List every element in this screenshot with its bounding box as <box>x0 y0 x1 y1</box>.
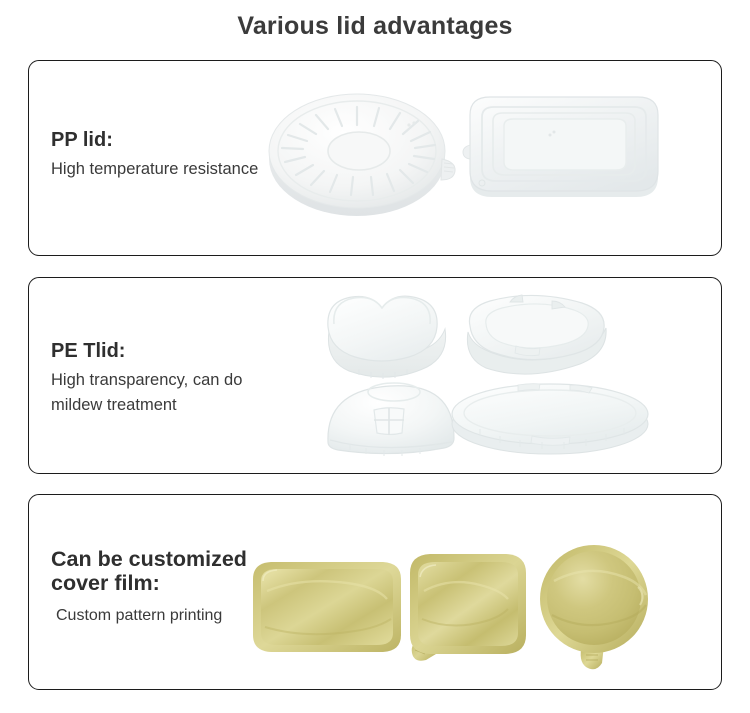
product-feature-panel: Various lid advantages PP lid: High temp… <box>0 0 750 713</box>
product-image-group-pe <box>271 278 721 473</box>
product-image-rectangular-lid <box>446 79 676 219</box>
product-image-dome-straw-lid <box>316 370 466 465</box>
product-image-group-cover-film <box>271 495 721 689</box>
product-image-oval-flat-lid <box>446 374 661 464</box>
product-image-group-pp <box>271 61 721 255</box>
page-title: Various lid advantages <box>0 12 750 41</box>
product-image-square-notched-lid <box>456 286 621 386</box>
feature-card-cover-film: Can be customized cover film: Custom pat… <box>28 494 722 690</box>
feature-card-pe-lid: PE Tlid: High transparency, can do milde… <box>28 277 722 474</box>
product-image-round-ribbed-lid <box>261 83 461 223</box>
feature-card-pp-lid: PP lid: High temperature resistance <box>28 60 722 256</box>
product-image-gold-round-foil-lid <box>526 541 666 676</box>
